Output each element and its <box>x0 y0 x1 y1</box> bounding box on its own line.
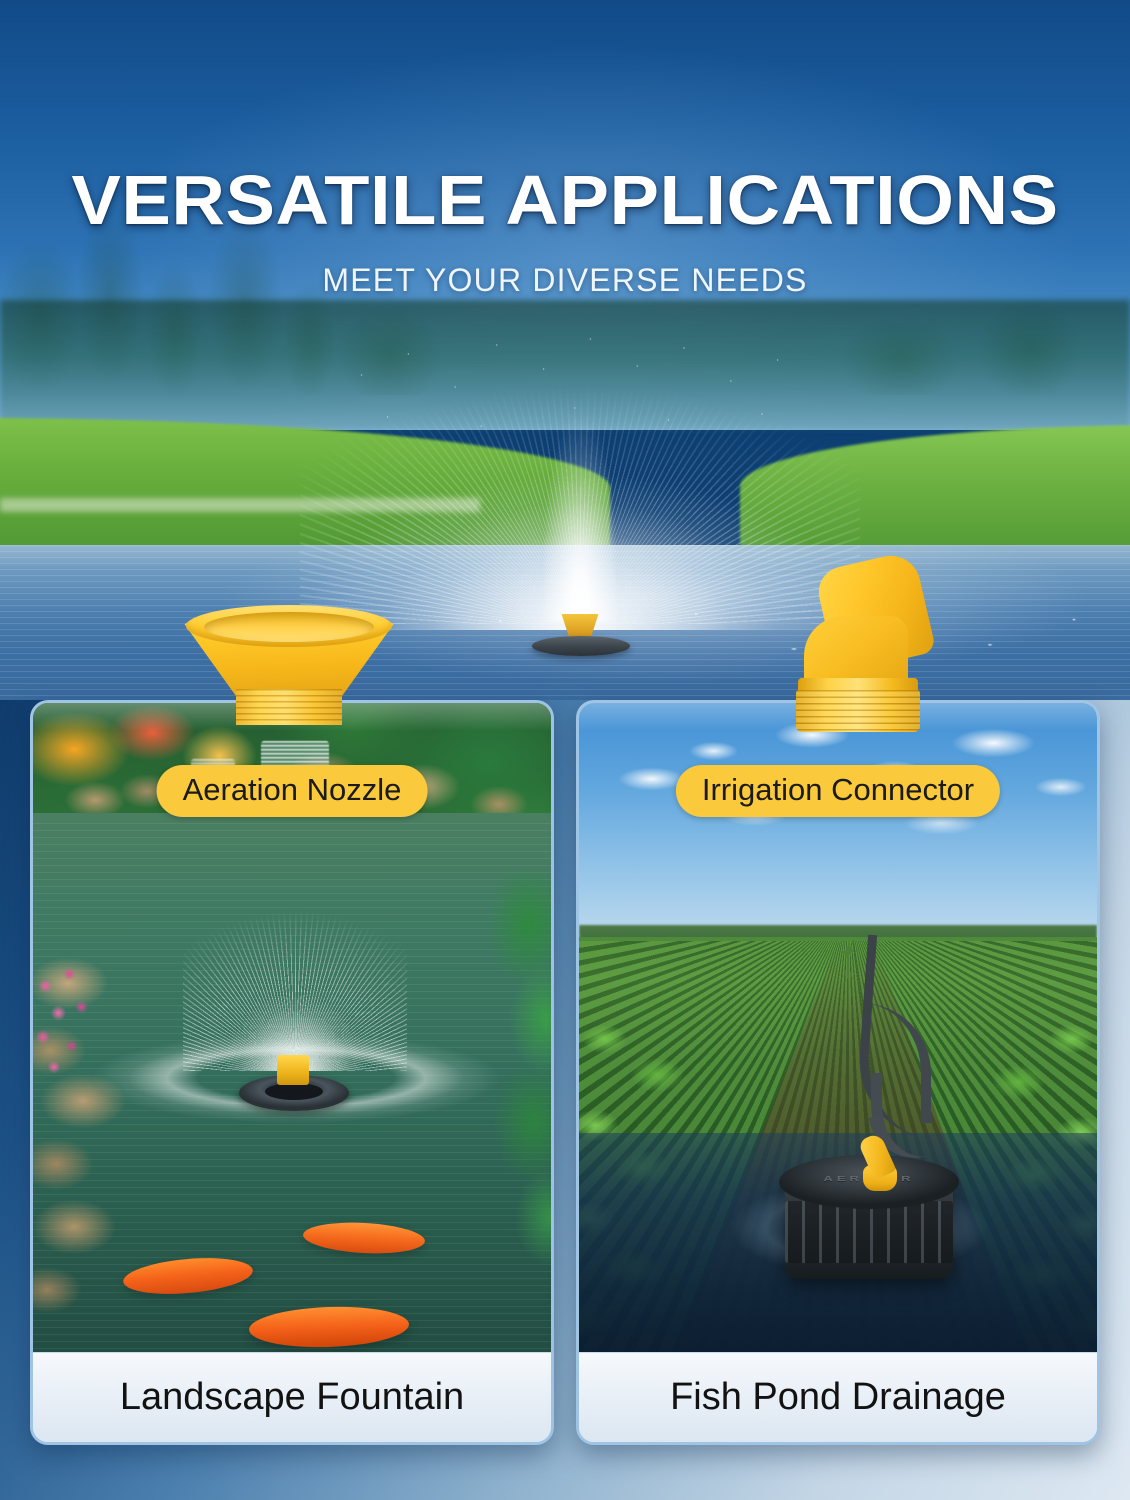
aerator-ribs <box>785 1201 953 1263</box>
product-infographic: VERSATILE APPLICATIONS MEET YOUR DIVERSE… <box>0 0 1130 1500</box>
badge-irrigation-connector: Irrigation Connector <box>676 765 1000 817</box>
pond-nozzle-icon <box>277 1055 309 1085</box>
card-photo-crop-field: AERATOR Irrigation Connector <box>579 703 1097 1358</box>
caption-landscape-fountain: Landscape Fountain <box>33 1352 551 1442</box>
product-aeration-nozzle <box>180 605 398 745</box>
pond-fountain-spray <box>183 893 407 1071</box>
badge-aeration-nozzle: Aeration Nozzle <box>157 765 428 817</box>
hero-float-base <box>532 636 630 656</box>
nozzle-threads <box>236 689 342 725</box>
card-photo-koi-pond: Aeration Nozzle <box>33 703 551 1358</box>
page-subtitle: MEET YOUR DIVERSE NEEDS <box>0 262 1130 299</box>
application-cards: Aeration Nozzle Landscape Fountain <box>30 700 1100 1445</box>
card-fish-pond-drainage[interactable]: AERATOR Irrigation Connector Fish Pond D… <box>576 700 1100 1445</box>
card-landscape-fountain[interactable]: Aeration Nozzle Landscape Fountain <box>30 700 554 1445</box>
product-irrigation-connector <box>790 560 940 745</box>
nozzle-inner-rim <box>204 612 374 642</box>
fountain-droplets <box>320 330 840 480</box>
elbow-threads <box>796 690 920 732</box>
page-title: VERSATILE APPLICATIONS <box>0 160 1130 240</box>
caption-fish-pond-drainage: Fish Pond Drainage <box>579 1352 1097 1442</box>
pond-float-opening <box>265 1083 323 1100</box>
hero-fountain <box>300 330 860 650</box>
